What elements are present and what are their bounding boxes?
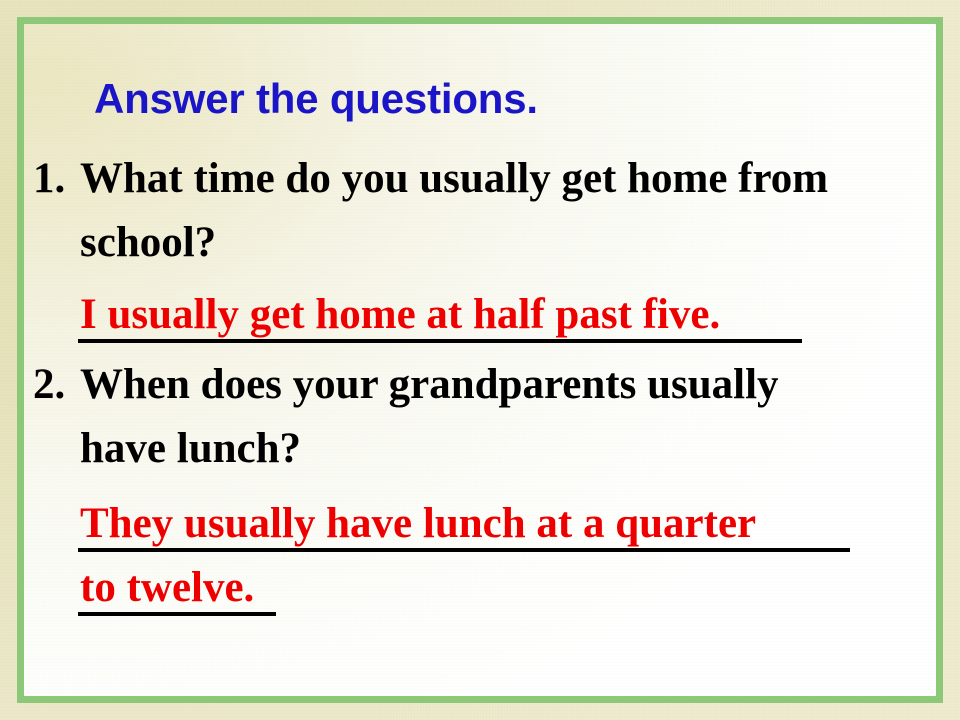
answer-1-line-1: I usually get home at half past five. bbox=[80, 291, 720, 339]
slide-content: Answer the questions. 1. What time do yo… bbox=[0, 0, 960, 720]
answer-2-text-part-1: They usually have lunch at a quarter bbox=[80, 500, 756, 547]
answer-2-underline-rule-1 bbox=[78, 548, 850, 552]
question-2-text-line-1: When does your grandparents usually bbox=[80, 361, 779, 409]
answer-1-underline-rule bbox=[78, 339, 802, 343]
question-1-text-line-2: school? bbox=[80, 219, 216, 267]
question-2-marker: 2. bbox=[33, 361, 80, 409]
question-1-row: 1. What time do you usually get home fro… bbox=[33, 155, 828, 203]
answer-1-text: I usually get home at half past five. bbox=[80, 291, 720, 338]
answer-2-line-2: to twelve. bbox=[80, 564, 254, 612]
slide-canvas: Answer the questions. 1. What time do yo… bbox=[0, 0, 960, 720]
answer-2-line-1: They usually have lunch at a quarter bbox=[80, 500, 756, 548]
answer-2-underline-rule-2 bbox=[78, 612, 276, 616]
answer-2-text-part-2: to twelve. bbox=[80, 564, 254, 611]
page-title: Answer the questions. bbox=[94, 76, 538, 122]
question-1-text-line-1: What time do you usually get home from bbox=[80, 155, 828, 203]
question-1-marker: 1. bbox=[33, 155, 80, 203]
question-2-row: 2. When does your grandparents usually bbox=[33, 361, 779, 409]
question-2-text-line-2: have lunch? bbox=[80, 425, 301, 473]
